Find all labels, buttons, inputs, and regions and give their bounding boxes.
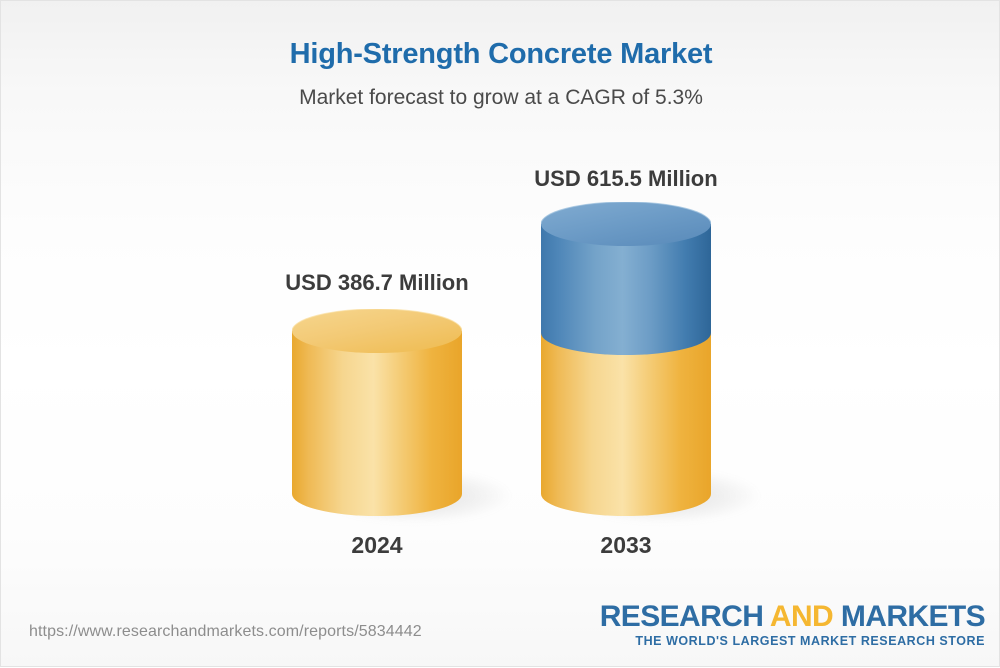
cylinder-2033-graphic	[541, 202, 711, 516]
value-label-2033: USD 615.5 Million	[486, 166, 766, 192]
logo-word-research: RESEARCH	[600, 600, 770, 633]
researchandmarkets-logo[interactable]: RESEARCH AND MARKETS THE WORLD'S LARGEST…	[600, 601, 985, 649]
bar-cylinder-2033[interactable]	[541, 202, 711, 516]
logo-word-and: AND	[770, 600, 833, 633]
logo-wordmark: RESEARCH AND MARKETS	[600, 601, 985, 633]
logo-word-markets: MARKETS	[833, 600, 985, 633]
logo-tagline: THE WORLD'S LARGEST MARKET RESEARCH STOR…	[600, 633, 985, 649]
bar-cylinder-2024[interactable]	[292, 309, 462, 516]
chart-plot-area: USD 386.7 Million	[1, 1, 1000, 668]
cylinder-2024-graphic	[292, 309, 462, 516]
value-label-2024: USD 386.7 Million	[237, 270, 517, 296]
report-url[interactable]: https://www.researchandmarkets.com/repor…	[29, 623, 422, 641]
category-label-2024: 2024	[237, 532, 517, 559]
category-label-2033: 2033	[486, 532, 766, 559]
infographic-canvas: High-Strength Concrete Market Market for…	[0, 0, 1000, 667]
